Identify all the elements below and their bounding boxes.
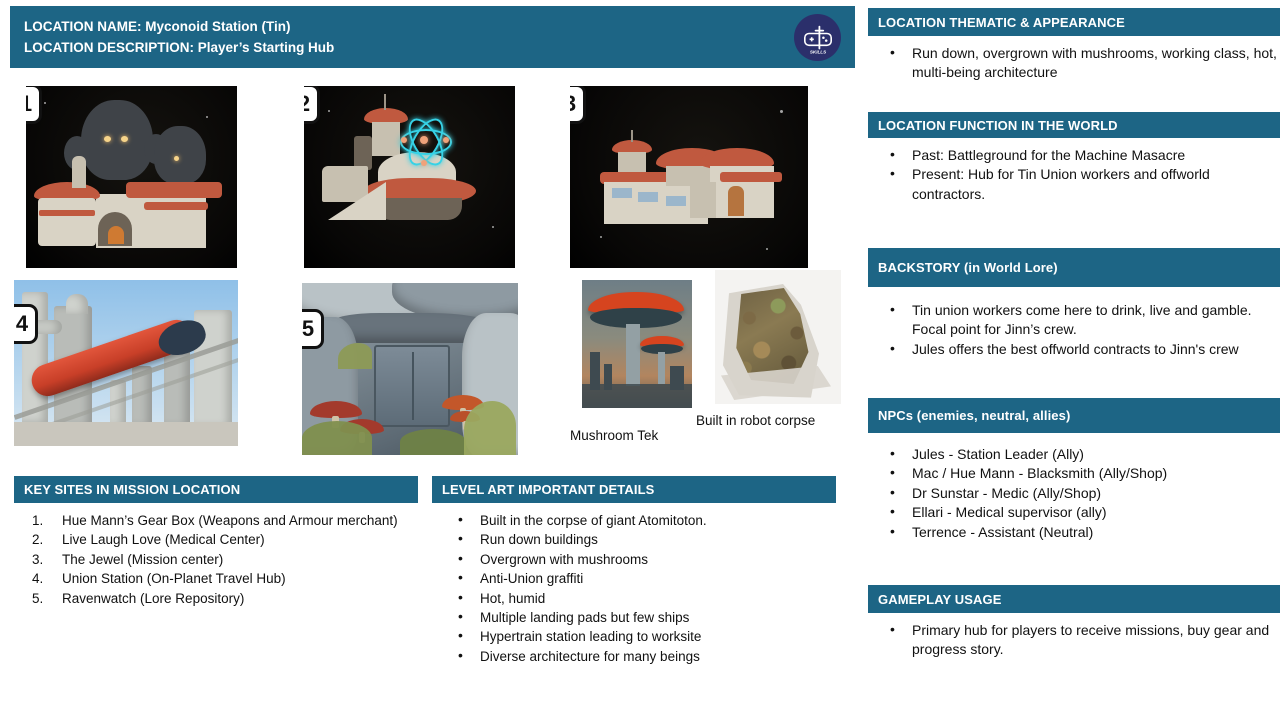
gameplay-usage-title: GAMEPLAY USAGE: [868, 585, 1280, 613]
location-function-section: LOCATION FUNCTION IN THE WORLD Past: Bat…: [868, 112, 1280, 204]
location-name-line: LOCATION NAME: Myconoid Station (Tin): [24, 16, 841, 37]
key-site-text: Hue Mann’s Gear Box (Weapons and Armour …: [62, 513, 398, 528]
thematic-appearance-section: LOCATION THEMATIC & APPEARANCE Run down,…: [868, 8, 1280, 83]
thematic-appearance-title: LOCATION THEMATIC & APPEARANCE: [868, 8, 1280, 36]
thumb-badge-3: 3: [570, 86, 586, 124]
reference-mushroom-tek[interactable]: [582, 280, 692, 408]
key-sites-list: 1.Hue Mann’s Gear Box (Weapons and Armou…: [18, 511, 414, 608]
location-name-value: Myconoid Station (Tin): [145, 19, 290, 34]
list-item: Hypertrain station leading to worksite: [436, 627, 832, 646]
thumb-badge-4: 4: [14, 304, 38, 344]
art-scene-robot-corpse: [715, 270, 841, 404]
key-site-text: Ravenwatch (Lore Repository): [62, 591, 244, 606]
location-name-label: LOCATION NAME:: [24, 19, 142, 34]
concept-art-hypertrain-union-station[interactable]: 4: [14, 280, 238, 446]
list-item: Diverse architecture for many beings: [436, 647, 832, 666]
gameplay-usage-body: Primary hub for players to receive missi…: [868, 613, 1280, 660]
backstory-section: BACKSTORY (in World Lore) Tin union work…: [868, 248, 1280, 359]
key-site-text: The Jewel (Mission center): [62, 552, 223, 567]
list-item: Run down buildings: [436, 530, 832, 549]
thematic-appearance-body: Run down, overgrown with mushrooms, work…: [868, 36, 1280, 83]
list-item: 4.Union Station (On-Planet Travel Hub): [18, 569, 414, 588]
location-description-value: Player’s Starting Hub: [198, 40, 335, 55]
level-art-title: LEVEL ART IMPORTANT DETAILS: [432, 476, 836, 503]
thematic-appearance-list: Run down, overgrown with mushrooms, work…: [868, 44, 1280, 83]
list-item: Run down, overgrown with mushrooms, work…: [868, 44, 1280, 83]
concept-art-station-buildings[interactable]: 3: [570, 86, 808, 268]
thumb-badge-2: 2: [304, 86, 320, 124]
list-item: Mac / Hue Mann - Blacksmith (Ally/Shop): [868, 464, 1280, 483]
atom-hologram-icon: [400, 116, 452, 166]
reference-built-in-robot-corpse[interactable]: [715, 270, 841, 404]
gameplay-usage-section: GAMEPLAY USAGE Primary hub for players t…: [868, 585, 1280, 660]
art-scene-1: [26, 86, 237, 268]
art-scene-4: [14, 280, 238, 446]
level-art-panel: LEVEL ART IMPORTANT DETAILS Built in the…: [432, 476, 836, 666]
list-item: Multiple landing pads but few ships: [436, 608, 832, 627]
list-item: Dr Sunstar - Medic (Ally/Shop): [868, 484, 1280, 503]
location-description-line: LOCATION DESCRIPTION: Player’s Starting …: [24, 37, 841, 58]
npcs-body: Jules - Station Leader (Ally) Mac / Hue …: [868, 433, 1280, 542]
art-scene-5: [302, 283, 518, 455]
caption-mushroom-tek: Mushroom Tek: [570, 427, 678, 444]
slide-canvas: LOCATION NAME: Myconoid Station (Tin) LO…: [0, 0, 1280, 720]
list-item: Built in the corpse of giant Atomitoton.: [436, 511, 832, 530]
list-item: 3.The Jewel (Mission center): [18, 550, 414, 569]
list-item: Ellari - Medical supervisor (ally): [868, 503, 1280, 522]
thumb-badge-1: 1: [26, 86, 42, 124]
concept-art-atom-reactor-building[interactable]: 2: [304, 86, 515, 268]
npcs-title: NPCs (enemies, neutral, allies): [868, 398, 1280, 433]
location-function-list: Past: Battleground for the Machine Masac…: [868, 146, 1280, 204]
location-header-banner: LOCATION NAME: Myconoid Station (Tin) LO…: [10, 6, 855, 68]
list-item: Tin union workers come here to drink, li…: [868, 301, 1280, 340]
location-function-body: Past: Battleground for the Machine Masac…: [868, 138, 1280, 204]
list-item: Present: Hub for Tin Union workers and o…: [868, 165, 1280, 204]
key-sites-body: 1.Hue Mann’s Gear Box (Weapons and Armou…: [14, 503, 418, 608]
list-item: Anti-Union graffiti: [436, 569, 832, 588]
list-item: Hot, humid: [436, 589, 832, 608]
list-item: 2.Live Laugh Love (Medical Center): [18, 530, 414, 549]
concept-art-station-with-machine-corpse[interactable]: 1: [26, 86, 237, 268]
key-sites-panel: KEY SITES IN MISSION LOCATION 1.Hue Mann…: [14, 476, 418, 608]
npcs-section: NPCs (enemies, neutral, allies) Jules - …: [868, 398, 1280, 542]
backstory-title: BACKSTORY (in World Lore): [868, 248, 1280, 287]
list-item: 5.Ravenwatch (Lore Repository): [18, 589, 414, 608]
level-art-list: Built in the corpse of giant Atomitoton.…: [436, 511, 832, 666]
list-item: Jules - Station Leader (Ally): [868, 445, 1280, 464]
key-site-text: Live Laugh Love (Medical Center): [62, 532, 265, 547]
list-item: Overgrown with mushrooms: [436, 550, 832, 569]
vault-door: [374, 345, 450, 427]
concept-art-cave-vault-door[interactable]: 5: [302, 283, 518, 455]
art-scene-3: [570, 86, 808, 268]
list-item: Jules offers the best offworld contracts…: [868, 340, 1280, 359]
caption-built-in-robot-corpse: Built in robot corpse: [696, 412, 816, 429]
list-item: Primary hub for players to receive missi…: [868, 621, 1280, 660]
location-function-title: LOCATION FUNCTION IN THE WORLD: [868, 112, 1280, 138]
gameplay-usage-list: Primary hub for players to receive missi…: [868, 621, 1280, 660]
key-sites-title: KEY SITES IN MISSION LOCATION: [14, 476, 418, 503]
list-item: Past: Battleground for the Machine Masac…: [868, 146, 1280, 165]
key-site-text: Union Station (On-Planet Travel Hub): [62, 571, 286, 586]
location-description-label: LOCATION DESCRIPTION:: [24, 40, 194, 55]
backstory-body: Tin union workers come here to drink, li…: [868, 287, 1280, 359]
backstory-list: Tin union workers come here to drink, li…: [868, 301, 1280, 359]
gamepad-sword-skills-logo: SKILLS: [794, 14, 841, 61]
list-item: 1.Hue Mann’s Gear Box (Weapons and Armou…: [18, 511, 414, 530]
art-scene-mushroom-tek: [582, 280, 692, 408]
logo-wordmark: SKILLS: [809, 49, 826, 54]
art-scene-2: [304, 86, 515, 268]
list-item: Terrence - Assistant (Neutral): [868, 523, 1280, 542]
npcs-list: Jules - Station Leader (Ally) Mac / Hue …: [868, 445, 1280, 542]
level-art-body: Built in the corpse of giant Atomitoton.…: [432, 503, 836, 666]
thumb-badge-5: 5: [302, 309, 324, 349]
